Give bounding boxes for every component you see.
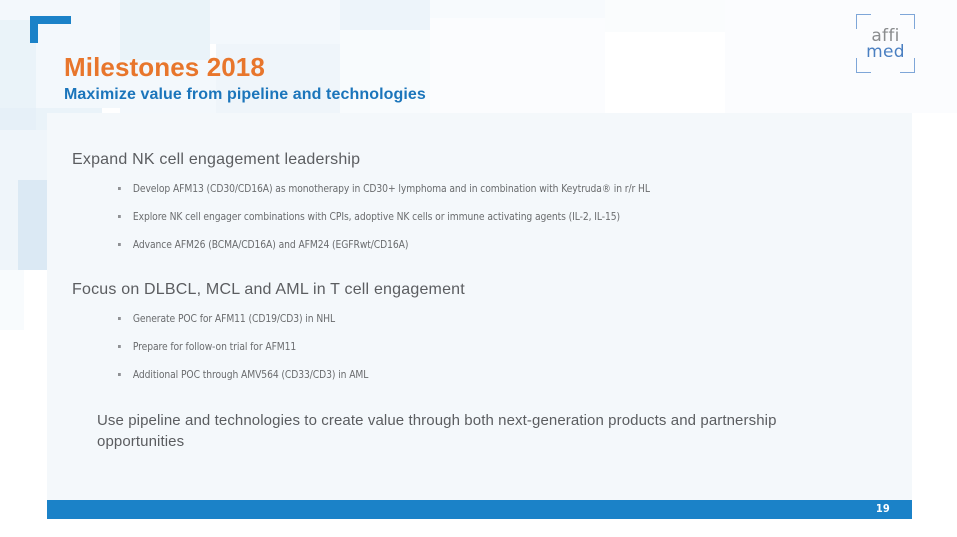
bullet-dot-icon: [118, 215, 121, 218]
corner-bracket-icon: [30, 16, 71, 43]
list-item-label: Develop AFM13 (CD30/CD16A) as monotherap…: [133, 182, 650, 195]
list-item: Additional POC through AMV564 (CD33/CD3)…: [118, 361, 368, 389]
bullet-dot-icon: [118, 345, 121, 348]
page-subtitle: Maximize value from pipeline and technol…: [64, 86, 426, 104]
content-panel: Expand NK cell engagement leadership Dev…: [47, 113, 912, 500]
list-item-label: Explore NK cell engager combinations wit…: [133, 210, 620, 223]
list-item: Generate POC for AFM11 (CD19/CD3) in NHL: [118, 305, 368, 333]
logo-text-med: med: [856, 43, 915, 61]
bullet-list-t-cell: Generate POC for AFM11 (CD19/CD3) in NHL…: [118, 305, 387, 389]
deco-square: [18, 180, 47, 270]
list-item-label: Advance AFM26 (BCMA/CD16A) and AFM24 (EG…: [133, 238, 408, 251]
bullet-dot-icon: [118, 373, 121, 376]
affimed-logo: affi med: [856, 14, 915, 73]
presentation-slide: affi med Milestones 2018 Maximize value …: [0, 0, 957, 537]
deco-square: [0, 108, 36, 130]
closing-statement: Use pipeline and technologies to create …: [97, 410, 837, 452]
list-item: Explore NK cell engager combinations wit…: [118, 203, 650, 231]
list-item: Advance AFM26 (BCMA/CD16A) and AFM24 (EG…: [118, 231, 650, 259]
bullet-list-nk-cell: Develop AFM13 (CD30/CD16A) as monotherap…: [118, 175, 690, 259]
deco-square: [430, 0, 605, 18]
deco-square: [605, 0, 725, 32]
section-heading-t-cell: Focus on DLBCL, MCL and AML in T cell en…: [72, 281, 465, 299]
corner-bracket-vertical: [30, 16, 38, 43]
page-number: 19: [876, 502, 890, 515]
deco-square: [430, 18, 605, 113]
deco-square: [210, 0, 340, 44]
deco-square: [0, 270, 24, 330]
page-title: Milestones 2018: [64, 52, 265, 83]
deco-square: [725, 0, 957, 113]
list-item: Develop AFM13 (CD30/CD16A) as monotherap…: [118, 175, 650, 203]
list-item-label: Additional POC through AMV564 (CD33/CD3)…: [133, 368, 368, 381]
deco-square: [0, 130, 47, 270]
bullet-dot-icon: [118, 243, 121, 246]
footer-bar: 19: [47, 500, 912, 519]
deco-square: [340, 0, 430, 30]
bullet-dot-icon: [118, 187, 121, 190]
section-heading-nk-cell: Expand NK cell engagement leadership: [72, 151, 360, 169]
deco-square: [120, 0, 210, 60]
bullet-dot-icon: [118, 317, 121, 320]
list-item-label: Generate POC for AFM11 (CD19/CD3) in NHL: [133, 312, 335, 325]
list-item-label: Prepare for follow-on trial for AFM11: [133, 340, 296, 353]
list-item: Prepare for follow-on trial for AFM11: [118, 333, 368, 361]
